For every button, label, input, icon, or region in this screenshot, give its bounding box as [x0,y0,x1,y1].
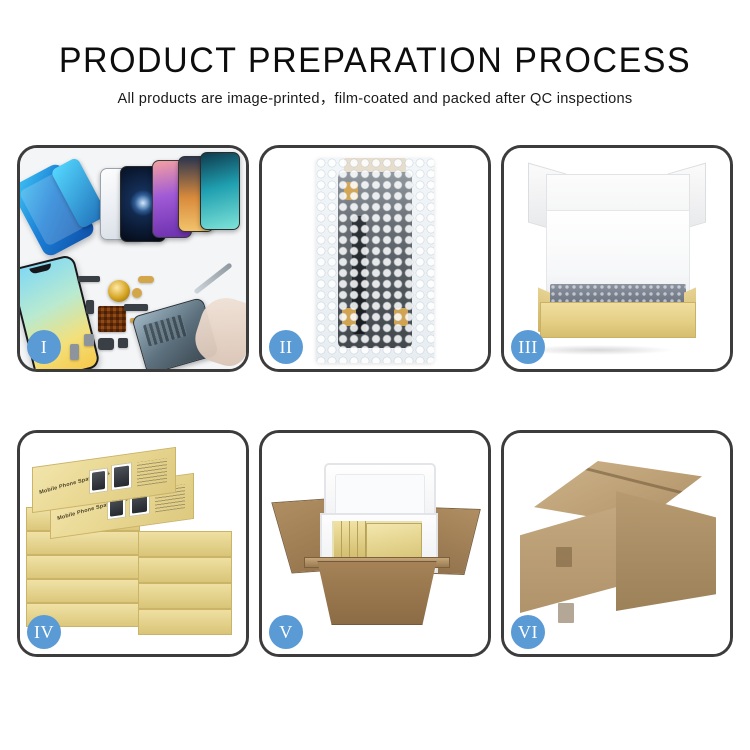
carton-seam-icon [560,461,706,500]
bubble-texture [316,158,434,363]
process-step-grid: I II [17,145,733,675]
stack-slab-icon [138,557,232,583]
product-preparation-infographic: PRODUCT PREPARATION PROCESS All products… [0,0,750,750]
step-badge-4: IV [27,615,61,649]
stack-slab-icon [26,555,140,579]
carton-front-icon [306,561,448,625]
box-front-panel-icon [540,302,696,338]
chip-grid-icon [98,306,126,332]
stack-slab-icon [138,583,232,609]
part-gold-round-icon [132,288,142,298]
carton-tape-upper-icon [556,547,572,567]
packed-box-edge-icon [342,521,350,559]
step-panel-2[interactable]: II [259,145,491,372]
packed-box-edge-icon [334,521,342,559]
step-badge-5: V [269,615,303,649]
packed-boxes-area [332,521,422,559]
packed-box-edge-icon [358,521,366,559]
speaker-coil-icon [108,280,130,302]
step-badge-2: II [269,330,303,364]
part-camera-module-icon [98,338,114,350]
step-badge-3: III [511,330,545,364]
step-badge-1: I [27,330,61,364]
stack-slab-icon [26,531,140,555]
stack-slab-icon [26,579,140,603]
packed-box-slab-icon [366,523,422,559]
part-small-4-icon [70,344,79,360]
tweezers-icon [193,262,232,294]
bubble-bag-icon [316,158,434,363]
box-window-icon [111,462,132,491]
step-panel-3[interactable]: III [501,145,733,372]
stack-slab-icon [138,609,232,635]
carton-right-face-icon [616,491,716,611]
phone-display-teal-icon [200,152,240,230]
step-panel-5[interactable]: V [259,430,491,657]
box-spec-lines [137,458,167,486]
page-title: PRODUCT PREPARATION PROCESS [11,0,739,80]
step-panel-6[interactable]: VI [501,430,733,657]
step-badge-6: VI [511,615,545,649]
step-panel-1[interactable]: I [17,145,249,372]
carton-left-face-icon [520,505,624,613]
carton-tape-lower-icon [558,603,574,623]
stack-slab-icon [138,531,232,557]
box-window-icon [89,467,108,494]
part-small-2-icon [84,334,94,346]
part-flex-cable-icon [124,304,148,311]
box-stack-icon: Mobile Phone Spare Parts Mobile Phone Sp… [26,455,240,640]
header: PRODUCT PREPARATION PROCESS All products… [0,0,750,108]
open-carton-icon [280,447,472,639]
part-strip-icon [78,276,100,282]
sealed-carton-icon [520,461,716,621]
page-subtitle: All products are image-printed，film-coat… [0,80,750,108]
step-panel-4[interactable]: Mobile Phone Spare Parts Mobile Phone Sp… [17,430,249,657]
packed-box-edge-icon [350,521,358,559]
part-small-1-icon [86,300,94,314]
part-small-3-icon [118,338,128,348]
part-gold-clip-icon [138,276,154,283]
open-box-icon [528,166,706,341]
